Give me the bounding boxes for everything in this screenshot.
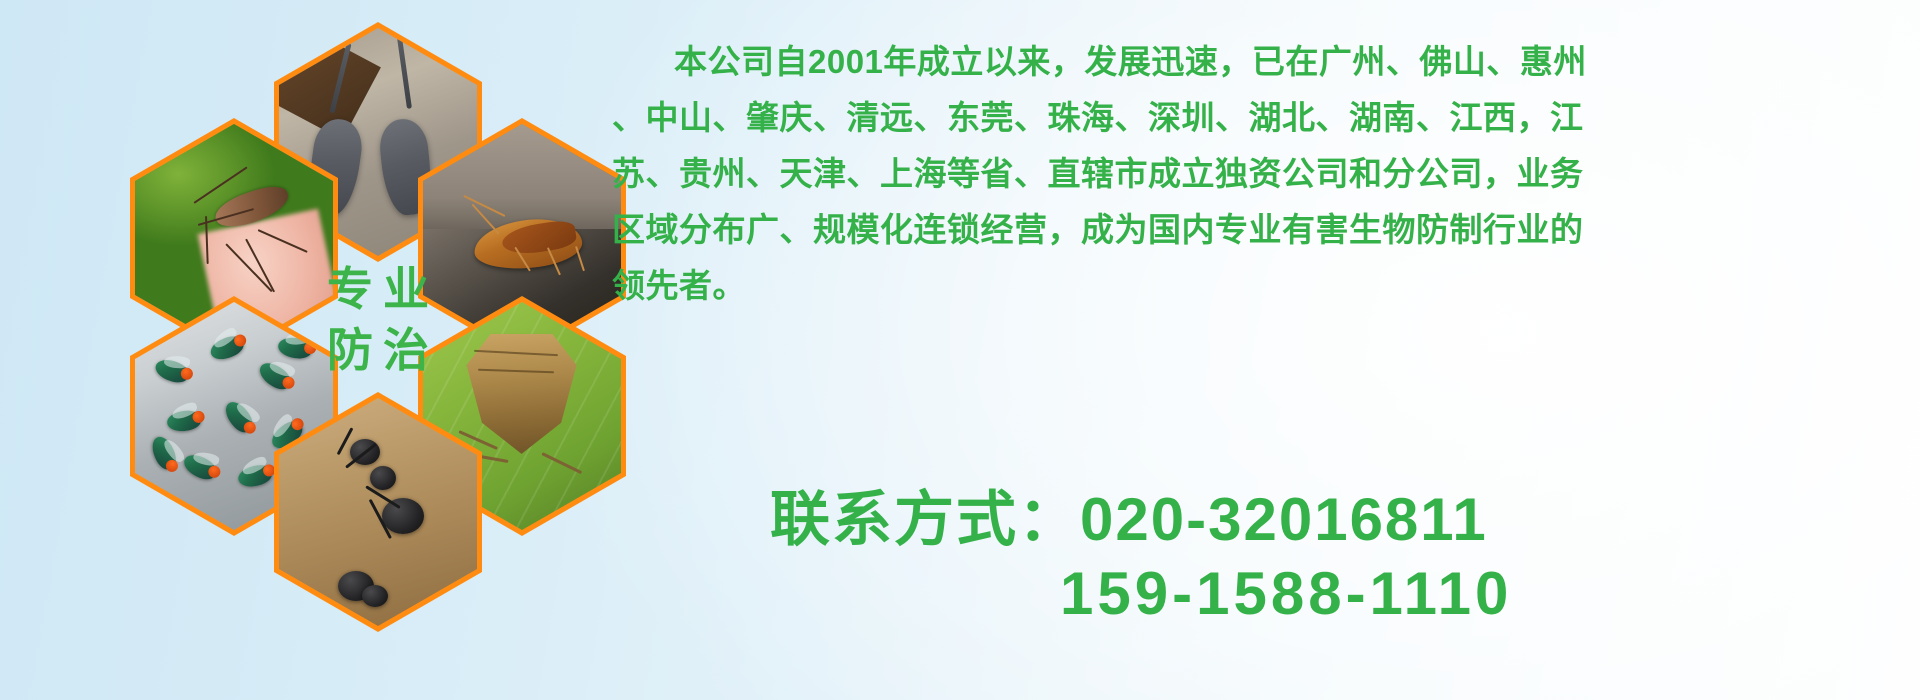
description-line-2: 、中山、肇庆、清远、东莞、珠海、深圳、湖北、湖南、江西，江 [612,90,1902,146]
fly-7 [180,451,219,484]
rat-tail-1 [330,42,352,113]
ant-thorax [370,466,396,490]
stinkbug-leg-3 [541,453,582,475]
mosquito-leg-4 [245,239,275,293]
hexagon-center-slogan: 专业 防治 [274,200,482,440]
rat-tail-2 [397,37,412,109]
description-line-3: 苏、贵州、天津、上海等省、直辖市成立独资公司和分公司，业务 [612,146,1902,202]
slogan-line-1: 专业 [317,264,439,315]
hexagon-photo-cluster: 专业 防治 [88,0,588,580]
fly-2 [208,333,247,364]
description-line-5: 领先者。 [612,258,1902,314]
fly-9 [148,434,180,473]
ant-abdomen [382,498,424,534]
mosquito-proboscis [205,216,209,264]
ant-2-thorax [362,585,388,607]
contact-block: 联系方式：020-32016811 159-1588-1110 [770,483,1512,631]
company-description: 本公司自2001年成立以来，发展迅速，已在广州、佛山、惠州 、中山、肇庆、清远、… [612,34,1902,314]
pest-control-banner: 专业 防治 本公司自2001年成立以来，发展迅速，已在广州、佛山、惠州 、中山、… [0,0,1920,700]
fly-1 [153,357,192,387]
slogan-line-2: 防治 [317,325,439,376]
contact-phone-mobile[interactable]: 159-1588-1110 [1060,557,1512,631]
fly-4 [165,409,201,434]
contact-phone-landline[interactable]: 联系方式：020-32016811 [770,483,1512,557]
fly-8 [236,462,274,490]
description-line-4: 区域分布广、规模化连锁经营，成为国内专业有害生物防制行业的 [612,202,1902,258]
description-line-1: 本公司自2001年成立以来，发展迅速，已在广州、佛山、惠州 [612,34,1902,90]
mosquito-leg-3 [225,243,272,292]
fly-5 [221,397,258,436]
